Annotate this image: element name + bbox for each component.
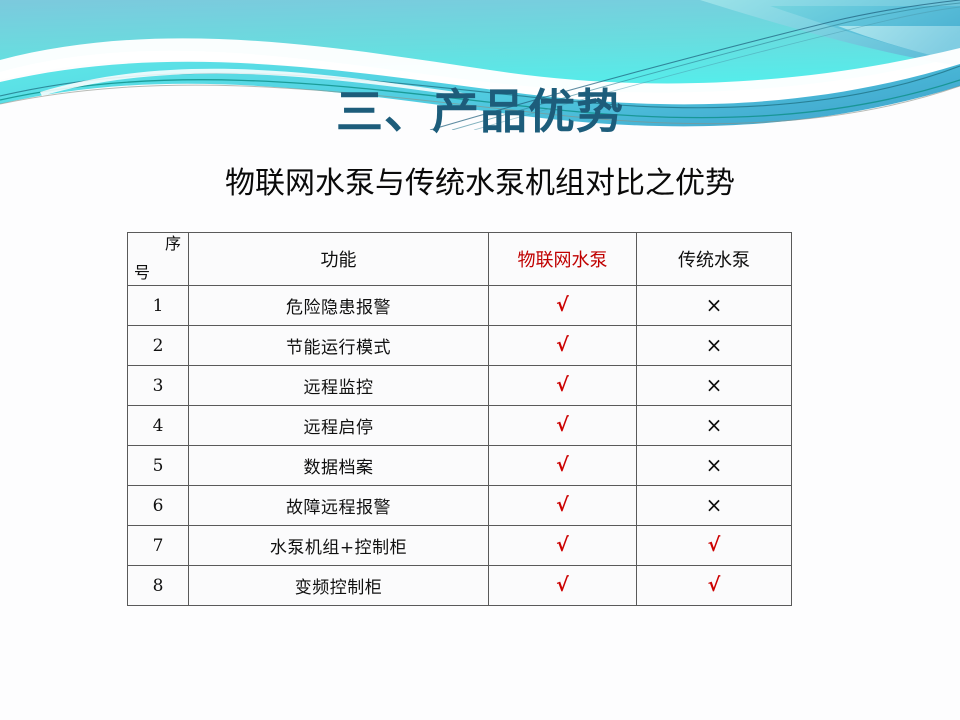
check-icon: √: [556, 494, 569, 516]
cell-iot-mark: √: [489, 446, 637, 486]
header-index-label-top: 序: [165, 235, 181, 253]
cell-iot-mark: √: [489, 366, 637, 406]
header-function-label: 功能: [321, 250, 357, 271]
row-index-value: 4: [153, 416, 164, 436]
cell-function: 变频控制柜: [189, 566, 489, 606]
cell-iot-mark: √: [489, 326, 637, 366]
cell-function: 故障远程报警: [189, 486, 489, 526]
header-cell-traditional: 传统水泵: [637, 233, 792, 286]
cell-index: 7: [128, 526, 189, 566]
header-cell-function: 功能: [189, 233, 489, 286]
cell-iot-mark: √: [489, 486, 637, 526]
row-function-value: 节能运行模式: [286, 338, 391, 358]
row-function-value: 危险隐患报警: [286, 298, 391, 318]
row-index-value: 6: [153, 496, 164, 516]
row-index-value: 2: [153, 336, 164, 356]
wave-band-thin-right: [838, 26, 960, 62]
row-index-value: 7: [153, 536, 164, 556]
row-index-value: 8: [153, 576, 164, 596]
table-row: 1危险隐患报警√×: [128, 286, 792, 326]
comparison-table: 序 号 功能 物联网水泵 传统水泵 1危险隐患报警√×2节能运行模式√×3远程监…: [127, 232, 792, 606]
check-icon: √: [556, 294, 569, 316]
row-function-value: 水泵机组+控制柜: [270, 538, 407, 558]
comparison-table-container: 序 号 功能 物联网水泵 传统水泵 1危险隐患报警√×2节能运行模式√×3远程监…: [127, 232, 791, 606]
cell-traditional-mark: √: [637, 566, 792, 606]
row-index-value: 3: [153, 376, 164, 396]
cross-icon: ×: [706, 333, 723, 357]
cell-index: 5: [128, 446, 189, 486]
check-icon: √: [708, 534, 721, 556]
cell-function: 数据档案: [189, 446, 489, 486]
table-row: 5数据档案√×: [128, 446, 792, 486]
check-icon: √: [556, 334, 569, 356]
comparison-table-body: 序 号 功能 物联网水泵 传统水泵 1危险隐患报警√×2节能运行模式√×3远程监…: [128, 233, 792, 606]
cross-icon: ×: [706, 493, 723, 517]
table-row: 2节能运行模式√×: [128, 326, 792, 366]
header-traditional-label: 传统水泵: [678, 250, 750, 271]
row-function-value: 变频控制柜: [295, 578, 383, 598]
cell-traditional-mark: ×: [637, 286, 792, 326]
title-container: 三、产品优势: [0, 88, 960, 137]
table-row: 3远程监控√×: [128, 366, 792, 406]
cell-index: 4: [128, 406, 189, 446]
cell-iot-mark: √: [489, 566, 637, 606]
cross-icon: ×: [706, 373, 723, 397]
row-function-value: 数据档案: [304, 458, 374, 478]
page-title: 三、产品优势: [336, 88, 624, 137]
header-iot-label: 物联网水泵: [518, 250, 608, 271]
cell-traditional-mark: ×: [637, 446, 792, 486]
page-subtitle: 物联网水泵与传统水泵机组对比之优势: [225, 167, 735, 200]
check-icon: √: [556, 454, 569, 476]
cell-function: 远程监控: [189, 366, 489, 406]
row-index-value: 1: [153, 296, 164, 316]
cell-function: 水泵机组+控制柜: [189, 526, 489, 566]
check-icon: √: [556, 414, 569, 436]
cell-index: 8: [128, 566, 189, 606]
row-function-value: 远程启停: [304, 418, 374, 438]
cell-traditional-mark: ×: [637, 366, 792, 406]
cross-icon: ×: [706, 413, 723, 437]
wave-base-shape: [0, 0, 960, 92]
cross-icon: ×: [706, 453, 723, 477]
wave-band-mid-right: [770, 6, 960, 62]
check-icon: √: [556, 374, 569, 396]
row-function-value: 故障远程报警: [286, 498, 391, 518]
table-row: 4远程启停√×: [128, 406, 792, 446]
table-header-row: 序 号 功能 物联网水泵 传统水泵: [128, 233, 792, 286]
slide-canvas: 三、产品优势 物联网水泵与传统水泵机组对比之优势 序 号 功能: [0, 0, 960, 720]
cell-index: 2: [128, 326, 189, 366]
cell-iot-mark: √: [489, 286, 637, 326]
cell-index: 6: [128, 486, 189, 526]
check-icon: √: [708, 574, 721, 596]
cell-function: 远程启停: [189, 406, 489, 446]
row-index-value: 5: [153, 456, 164, 476]
cell-traditional-mark: √: [637, 526, 792, 566]
check-icon: √: [556, 574, 569, 596]
row-function-value: 远程监控: [304, 378, 374, 398]
header-cell-index: 序 号: [128, 233, 189, 286]
cell-traditional-mark: ×: [637, 406, 792, 446]
table-row: 7水泵机组+控制柜√√: [128, 526, 792, 566]
cell-traditional-mark: ×: [637, 326, 792, 366]
cell-index: 1: [128, 286, 189, 326]
cell-function: 节能运行模式: [189, 326, 489, 366]
cell-traditional-mark: ×: [637, 486, 792, 526]
subtitle-container: 物联网水泵与传统水泵机组对比之优势: [0, 167, 960, 200]
check-icon: √: [556, 534, 569, 556]
table-row: 6故障远程报警√×: [128, 486, 792, 526]
cell-function: 危险隐患报警: [189, 286, 489, 326]
wave-band-upper-right: [700, 0, 960, 66]
cell-index: 3: [128, 366, 189, 406]
header-index-label-bottom: 号: [134, 264, 150, 282]
table-row: 8变频控制柜√√: [128, 566, 792, 606]
header-cell-iot: 物联网水泵: [489, 233, 637, 286]
cross-icon: ×: [706, 293, 723, 317]
cell-iot-mark: √: [489, 526, 637, 566]
cell-iot-mark: √: [489, 406, 637, 446]
